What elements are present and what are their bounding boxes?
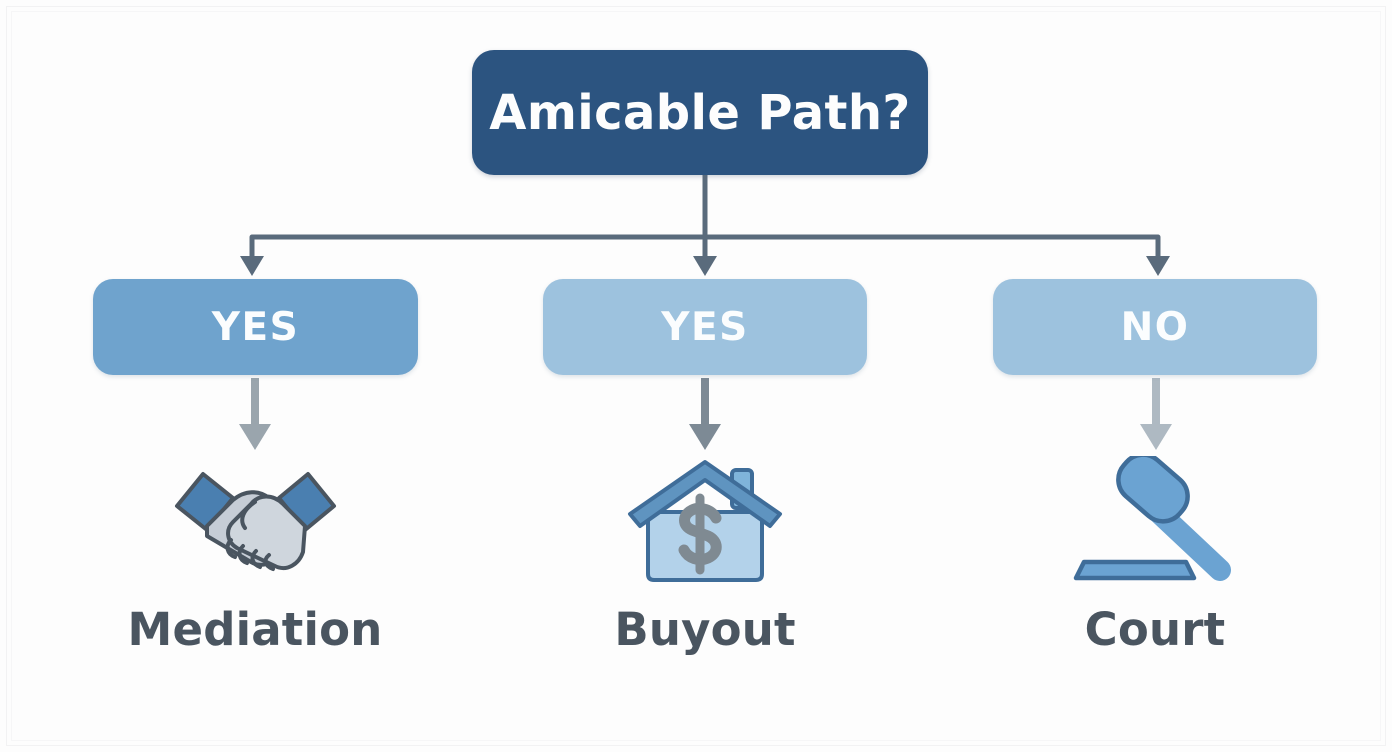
handshake-icon bbox=[160, 455, 350, 585]
outcome-label: Buyout bbox=[614, 603, 795, 656]
branch-answer-label: YES bbox=[212, 305, 299, 350]
outcome-label: Mediation bbox=[128, 603, 383, 656]
outcome-court[interactable]: Court bbox=[990, 455, 1320, 656]
diagram-canvas: Amicable Path? YES YES NO bbox=[0, 0, 1392, 752]
branch-answer-label: NO bbox=[1121, 305, 1190, 350]
branch-answer-label: YES bbox=[661, 305, 748, 350]
root-decision-node[interactable]: Amicable Path? bbox=[472, 50, 928, 175]
outcome-label: Court bbox=[1085, 603, 1226, 656]
root-decision-label: Amicable Path? bbox=[489, 85, 910, 141]
branch-node-yes-buyout[interactable]: YES bbox=[543, 279, 867, 375]
outcome-buyout[interactable]: Buyout bbox=[540, 455, 870, 656]
branch-node-yes-mediation[interactable]: YES bbox=[93, 279, 418, 375]
house-dollar-icon bbox=[610, 455, 800, 585]
gavel-icon bbox=[1060, 455, 1250, 585]
outcome-mediation[interactable]: Mediation bbox=[90, 455, 420, 656]
branch-node-no-court[interactable]: NO bbox=[993, 279, 1317, 375]
